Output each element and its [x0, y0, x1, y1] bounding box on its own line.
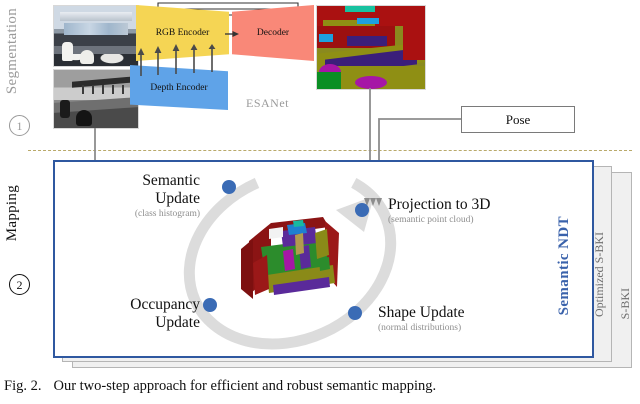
semantic-3d-map-visual: [237, 203, 345, 308]
cycle-label-shape-update: Shape Update (normal distributions): [378, 304, 558, 334]
occupancy-update-line2: Update: [80, 314, 200, 332]
cycle-node-shape-update: [348, 306, 362, 320]
mapping-card-label-semantic-ndt: Semantic NDT: [556, 216, 573, 315]
semantic-update-line2: Update: [88, 190, 200, 208]
stage-number-2: 2: [9, 274, 30, 295]
projection-to-3d-subtitle: (semantic point cloud): [388, 214, 558, 226]
decoder-label: Decoder: [257, 28, 289, 38]
mapping-card-label-optimized-sbki: Optimized S-BKI: [592, 232, 607, 317]
encoder-to-decoder-arrow: [225, 28, 241, 40]
cycle-node-projection-to-3d: [355, 203, 369, 217]
cycle-label-semantic-update: Semantic Update (class histogram): [88, 172, 200, 220]
figure-caption-text: Our two-step approach for efficient and …: [53, 378, 436, 394]
occupancy-update-line1: Occupancy: [80, 296, 200, 314]
figure-semantic-mapping-pipeline: Segmentation 1 Mapping 2 RGB Encoder: [0, 0, 640, 404]
figure-caption: Fig. 2.Our two-step approach for efficie…: [4, 378, 638, 395]
semantic-update-line1: Semantic: [88, 172, 200, 190]
rgb-input-image: [53, 5, 139, 67]
mapping-card-label-sbki: S-BKI: [618, 288, 633, 319]
cycle-label-projection-to-3d: Projection to 3D (semantic point cloud): [388, 196, 558, 226]
shape-update-title: Shape Update: [378, 304, 558, 322]
figure-caption-tag: Fig. 2.: [4, 378, 41, 394]
rgb-encoder-label: RGB Encoder: [156, 28, 210, 38]
shape-update-subtitle: (normal distributions): [378, 322, 558, 334]
cycle-label-occupancy-update: Occupancy Update: [80, 296, 200, 332]
semantic-update-subtitle: (class histogram): [88, 208, 200, 220]
cycle-node-semantic-update: [222, 180, 236, 194]
cycle-node-occupancy-update: [203, 298, 217, 312]
projection-to-3d-title: Projection to 3D: [388, 196, 558, 214]
